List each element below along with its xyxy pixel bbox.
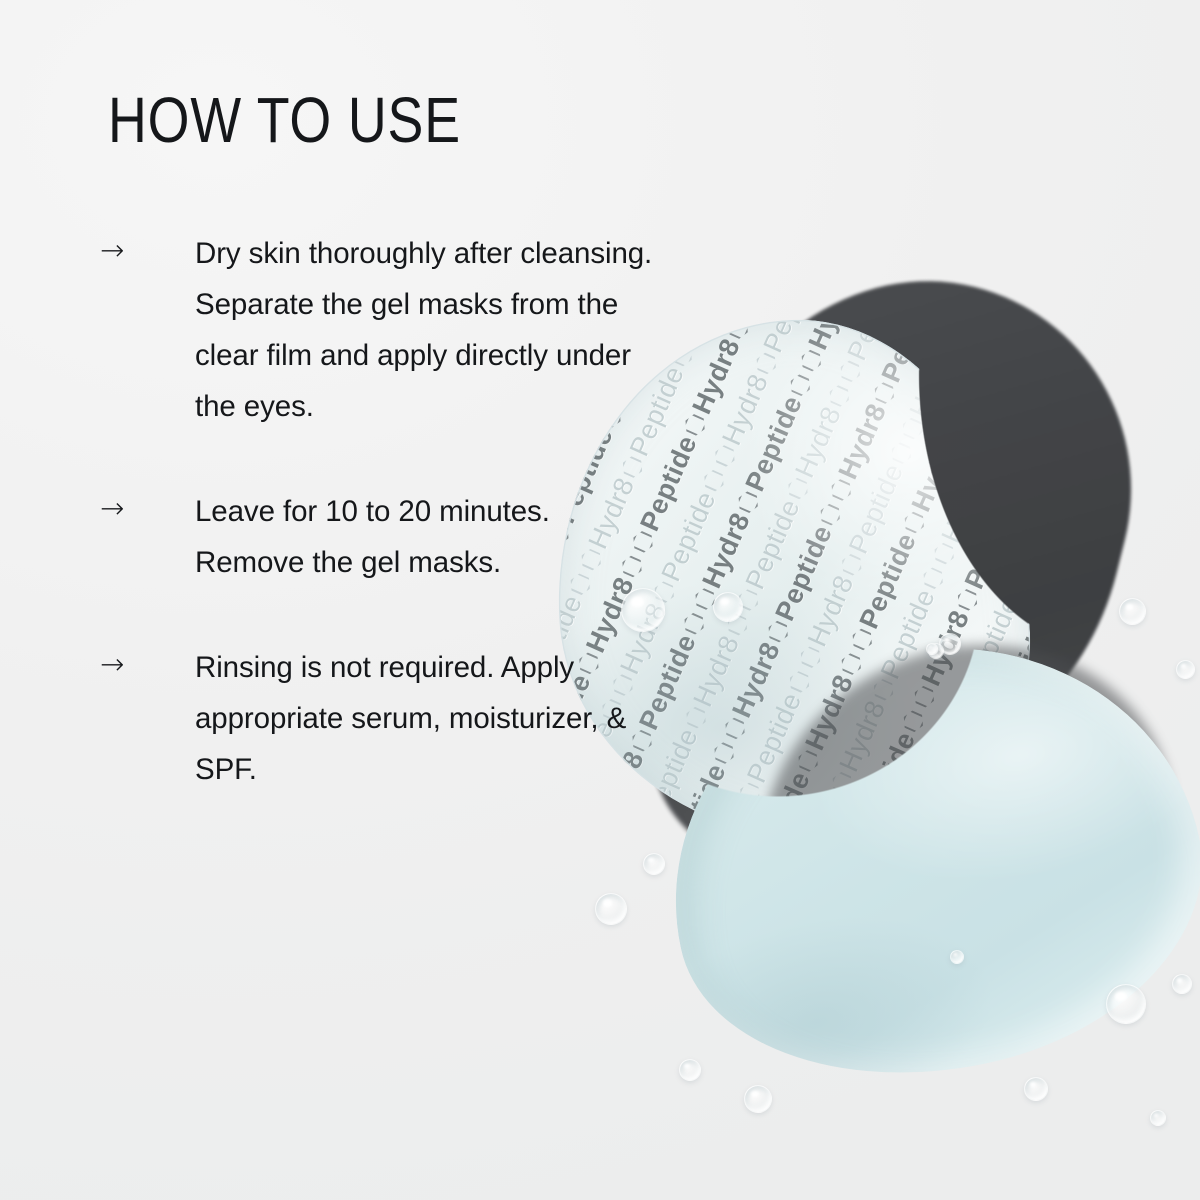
steps-list: → Dry skin thoroughly after cleansing. S…	[100, 228, 680, 795]
arrow-right-icon: →	[100, 644, 156, 684]
water-droplet	[1176, 660, 1195, 679]
hexagon-molecule-icon	[920, 566, 947, 592]
step-text: Dry skin thoroughly after cleansing. Sep…	[195, 228, 655, 432]
hexagon-molecule-icon	[955, 388, 982, 414]
hexagon-molecule-icon	[787, 372, 814, 398]
water-droplet	[950, 950, 964, 964]
poster-canvas: Hydr8PeptideHydr8PeptideHydr8PeptideHydr…	[0, 0, 1200, 1200]
water-droplet	[1024, 1077, 1048, 1101]
water-droplet	[713, 592, 743, 622]
hexagon-molecule-icon	[944, 413, 971, 439]
hexagon-molecule-icon	[1004, 574, 1031, 600]
hexagon-molecule-icon	[972, 448, 999, 474]
hexagon-molecule-icon	[753, 351, 780, 377]
hexagon-molecule-icon	[701, 468, 728, 494]
page-title: HOW TO USE	[108, 88, 461, 152]
hexagon-molecule-icon	[899, 416, 926, 442]
hexagon-molecule-icon	[940, 323, 967, 349]
water-droplet	[926, 643, 938, 655]
hexagon-molecule-icon	[797, 645, 824, 671]
step-item: → Rinsing is not required. Apply appropr…	[100, 642, 680, 795]
hexagon-molecule-icon	[798, 348, 825, 374]
hexagon-molecule-icon	[901, 510, 928, 536]
step-text: Leave for 10 to 20 minutes. Remove the g…	[195, 486, 665, 588]
hexagon-molecule-icon	[888, 440, 915, 466]
hexagon-molecule-icon	[954, 587, 981, 613]
hexagon-molecule-icon	[725, 315, 752, 341]
water-droplet	[1172, 974, 1192, 994]
hexagon-molecule-icon	[826, 383, 853, 409]
hexagon-molecule-icon	[712, 443, 739, 469]
arrow-right-icon: →	[100, 230, 156, 270]
hexagon-molecule-icon	[837, 358, 864, 384]
hexagon-molecule-icon	[839, 552, 866, 578]
hexagon-molecule-icon	[828, 477, 855, 503]
hexagon-molecule-icon	[871, 380, 898, 406]
step-item: → Leave for 10 to 20 minutes. Remove the…	[100, 486, 680, 588]
hexagon-molecule-icon	[785, 476, 812, 502]
water-droplet	[1106, 984, 1146, 1024]
water-droplet	[744, 1085, 772, 1113]
step-item: → Dry skin thoroughly after cleansing. S…	[100, 228, 680, 432]
step-text: Rinsing is not required. Apply appropria…	[195, 642, 670, 795]
hexagon-molecule-icon	[736, 312, 763, 317]
arrow-right-icon: →	[100, 488, 156, 528]
hexagon-molecule-icon	[765, 619, 792, 645]
hexagon-molecule-icon	[931, 541, 958, 567]
hexagon-molecule-icon	[849, 627, 876, 653]
water-droplet	[1119, 598, 1146, 625]
instructions-panel: HOW TO USE → Dry skin thoroughly after c…	[0, 0, 700, 1200]
hexagon-molecule-icon	[735, 489, 762, 515]
hexagon-molecule-icon	[817, 502, 844, 528]
water-droplet	[1150, 1110, 1166, 1126]
